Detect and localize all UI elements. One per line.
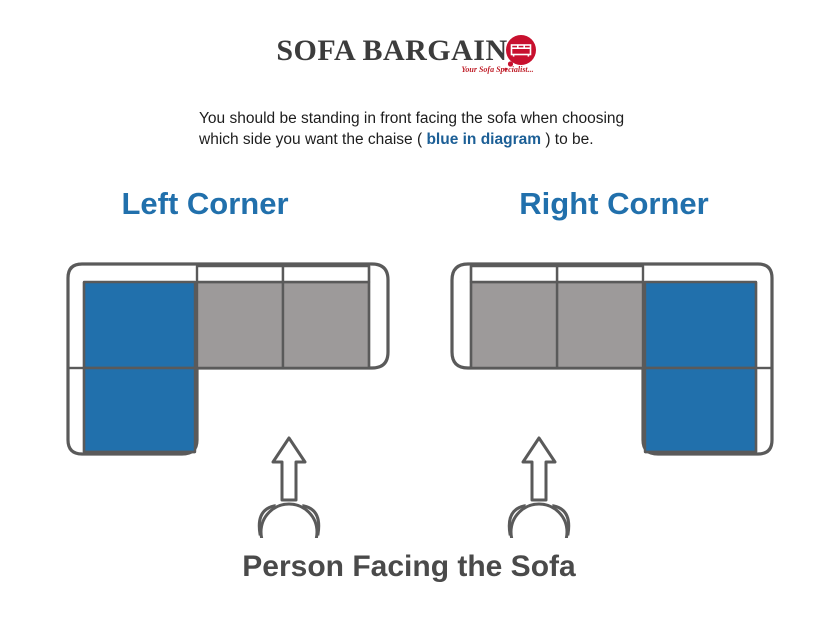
seat-cushion-2 [283, 282, 369, 368]
backrest-pillow-2 [471, 266, 557, 282]
backrest-pillow-2 [283, 266, 369, 282]
chaise-cushion-upper [84, 282, 195, 368]
backrest-pillow-1 [197, 266, 283, 282]
facing-direction-arrow [523, 438, 555, 500]
backrest-pillow-1 [557, 266, 643, 282]
chaise-cushion-lower [84, 368, 195, 452]
person-top-view [259, 504, 318, 538]
site-logo: SOFA BARGAIN Your Sofa Specialist... [0, 34, 818, 74]
seat-cushion-2 [471, 282, 557, 368]
logo-tagline: Your Sofa Specialist... [461, 65, 533, 74]
left-corner-sofa-diagram [60, 238, 400, 543]
instruction-highlight: blue in diagram [426, 131, 541, 148]
seat-cushion-1 [197, 282, 283, 368]
instruction-part-2: ) to be. [541, 131, 594, 148]
heading-right-corner: Right Corner [410, 186, 818, 222]
right-corner-sofa-diagram [444, 238, 784, 543]
chaise-cushion-lower [645, 368, 756, 452]
page-caption: Person Facing the Sofa [0, 550, 818, 584]
logo-inner: SOFA BARGAIN Your Sofa Specialist... [276, 34, 541, 74]
facing-direction-arrow [273, 438, 305, 500]
seat-cushion-1 [557, 282, 643, 368]
chaise-cushion-upper [645, 282, 756, 368]
logo-brand-text: SOFA BARGAIN [276, 34, 507, 68]
instruction-text: You should be standing in front facing t… [199, 108, 659, 150]
heading-left-corner: Left Corner [0, 186, 410, 222]
person-top-view [509, 504, 568, 538]
